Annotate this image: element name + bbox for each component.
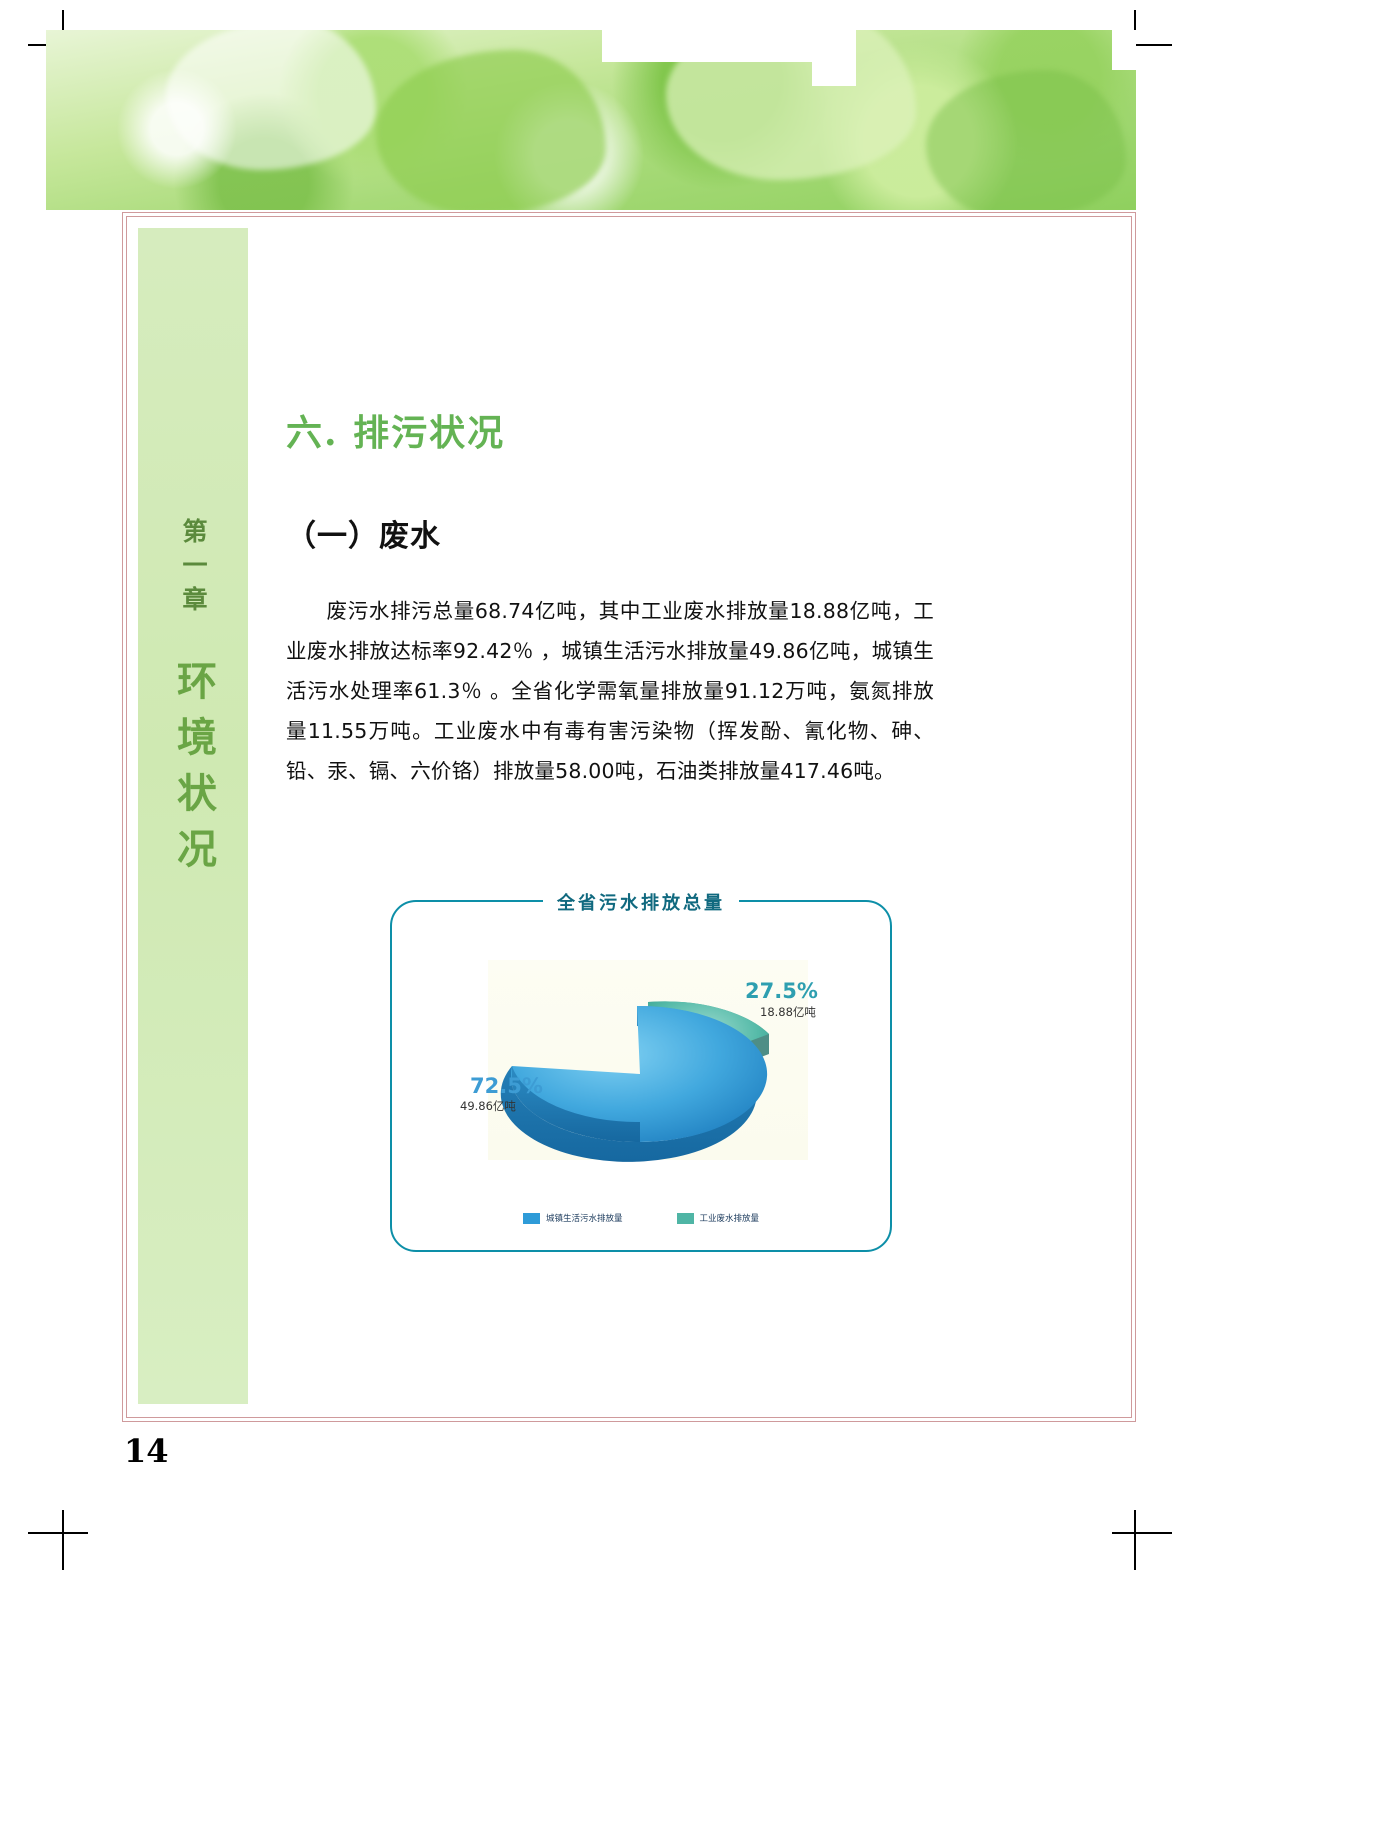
section-heading: 六. 排污状况 [286,390,946,456]
banner-notch-2 [812,30,856,86]
page-number: 14 [124,1432,169,1470]
sub-heading: （一）废水 [286,456,946,555]
legend-item-urban: 城镇生活污水排放量 [523,1212,623,1224]
crop-mark-bottom-right [1112,1510,1172,1570]
pie-chart: 72.5% 49.86亿吨 27.5% 18.88亿吨 [412,974,872,1164]
main-content: 六. 排污状况 （一）废水 废污水排污总量68.74亿吨，其中工业废水排放量18… [286,390,946,791]
legend-label-industrial: 工业废水排放量 [700,1212,760,1224]
chart-card: 全省污水排放总量 [390,900,892,1252]
legend-item-industrial: 工业废水排放量 [677,1212,760,1224]
header-leaf-banner [46,30,1136,210]
banner-notch-1 [602,30,812,62]
legend-swatch-industrial [677,1213,694,1224]
pie-value-label-industrial: 18.88亿吨 [760,1004,816,1020]
legend-label-urban: 城镇生活污水排放量 [546,1212,623,1224]
leaf-shape-2 [376,50,606,210]
crop-mark-bottom-left [28,1510,88,1570]
chart-legend: 城镇生活污水排放量 工业废水排放量 [392,1212,890,1224]
body-paragraph: 废污水排污总量68.74亿吨，其中工业废水排放量18.88亿吨，工业废水排放达标… [286,555,934,791]
banner-notch-3 [1112,30,1136,70]
chapter-number: 第一章 [175,518,211,620]
leaf-shape-1 [166,30,376,170]
pie-value-label-urban: 49.86亿吨 [460,1098,516,1114]
pie-percent-label-urban: 72.5% [470,1074,543,1098]
chapter-title: 环境状况 [164,660,222,884]
chapter-side-tab: 第一章 环境状况 [138,228,248,1404]
chart-title: 全省污水排放总量 [543,889,739,915]
chart-title-wrap: 全省污水排放总量 [392,889,890,915]
pie-percent-label-industrial: 27.5% [745,979,818,1003]
leaf-shape-4 [926,70,1126,210]
paragraph-text: 废污水排污总量68.74亿吨，其中工业废水排放量18.88亿吨，工业废水排放达标… [286,599,934,783]
legend-swatch-urban [523,1213,540,1224]
